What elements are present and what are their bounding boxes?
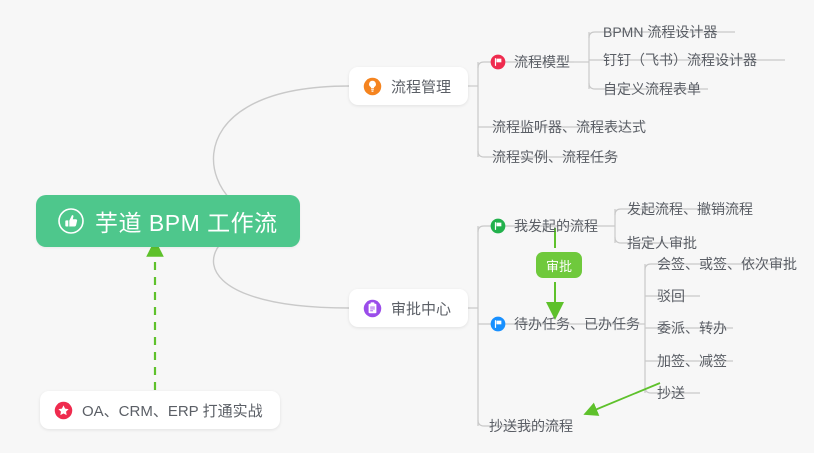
label-bpmn-designer: BPMN 流程设计器 <box>603 22 717 42</box>
label-process-listener-expression: 流程监听器、流程表达式 <box>492 117 646 137</box>
star-badge-icon <box>54 401 73 420</box>
node-cc-to-me-process[interactable]: 抄送我的流程 <box>487 412 581 440</box>
branch-label-process-management: 流程管理 <box>391 76 451 97</box>
annotation-tag-approval-label: 审批 <box>546 256 572 275</box>
lightbulb-icon <box>363 77 382 96</box>
node-process-instance-task[interactable]: 流程实例、流程任务 <box>490 143 626 171</box>
node-my-initiated-process[interactable]: 我发起的流程 <box>488 212 606 240</box>
node-countersign-or-sequential[interactable]: 会签、或签、依次审批 <box>655 250 805 278</box>
annotation-tag-approval: 审批 <box>536 252 582 278</box>
node-add-remove-sign[interactable]: 加签、减签 <box>655 347 735 375</box>
node-delegate-transfer[interactable]: 委派、转办 <box>655 314 735 342</box>
node-bpmn-designer[interactable]: BPMN 流程设计器 <box>601 18 725 46</box>
thumbs-up-icon <box>58 208 84 234</box>
label-process-model: 流程模型 <box>514 52 570 72</box>
flag-icon <box>490 218 506 234</box>
label-my-initiated-process: 我发起的流程 <box>514 216 598 236</box>
node-reject[interactable]: 驳回 <box>655 282 693 310</box>
node-start-cancel-process[interactable]: 发起流程、撤销流程 <box>625 195 761 223</box>
branch-label-approval-center: 审批中心 <box>391 298 451 319</box>
root-node[interactable]: 芋道 BPM 工作流 <box>36 195 300 247</box>
label-start-cancel-process: 发起流程、撤销流程 <box>627 199 753 219</box>
label-reject: 驳回 <box>657 286 685 306</box>
node-process-model[interactable]: 流程模型 <box>488 48 578 76</box>
node-dingtalk-feishu-designer[interactable]: 钉钉（飞书）流程设计器 <box>601 46 765 74</box>
node-custom-process-form[interactable]: 自定义流程表单 <box>601 75 709 103</box>
mindmap-canvas: 芋道 BPM 工作流 OA、CRM、ERP 打通实战 流程管理 <box>0 0 814 453</box>
label-process-instance-task: 流程实例、流程任务 <box>492 147 618 167</box>
branch-node-process-management[interactable]: 流程管理 <box>349 67 468 105</box>
arrow-cc-to-ccme <box>590 383 660 412</box>
node-process-listener-expression[interactable]: 流程监听器、流程表达式 <box>490 113 654 141</box>
label-add-remove-sign: 加签、减签 <box>657 351 727 371</box>
node-cc[interactable]: 抄送 <box>655 379 693 407</box>
clipboard-icon <box>363 299 382 318</box>
label-cc-to-me-process: 抄送我的流程 <box>489 416 573 436</box>
label-todo-done-tasks: 待办任务、已办任务 <box>514 314 640 334</box>
label-dingtalk-feishu-designer: 钉钉（飞书）流程设计器 <box>603 50 757 70</box>
label-delegate-transfer: 委派、转办 <box>657 318 727 338</box>
root-label: 芋道 BPM 工作流 <box>95 204 278 238</box>
label-countersign-or-sequential: 会签、或签、依次审批 <box>657 254 797 274</box>
footnote-node[interactable]: OA、CRM、ERP 打通实战 <box>40 391 280 429</box>
footnote-label: OA、CRM、ERP 打通实战 <box>82 400 263 421</box>
label-custom-process-form: 自定义流程表单 <box>603 79 701 99</box>
label-cc: 抄送 <box>657 383 685 403</box>
flag-icon <box>490 316 506 332</box>
node-todo-done-tasks[interactable]: 待办任务、已办任务 <box>488 310 648 338</box>
flag-icon <box>490 54 506 70</box>
branch-node-approval-center[interactable]: 审批中心 <box>349 289 468 327</box>
